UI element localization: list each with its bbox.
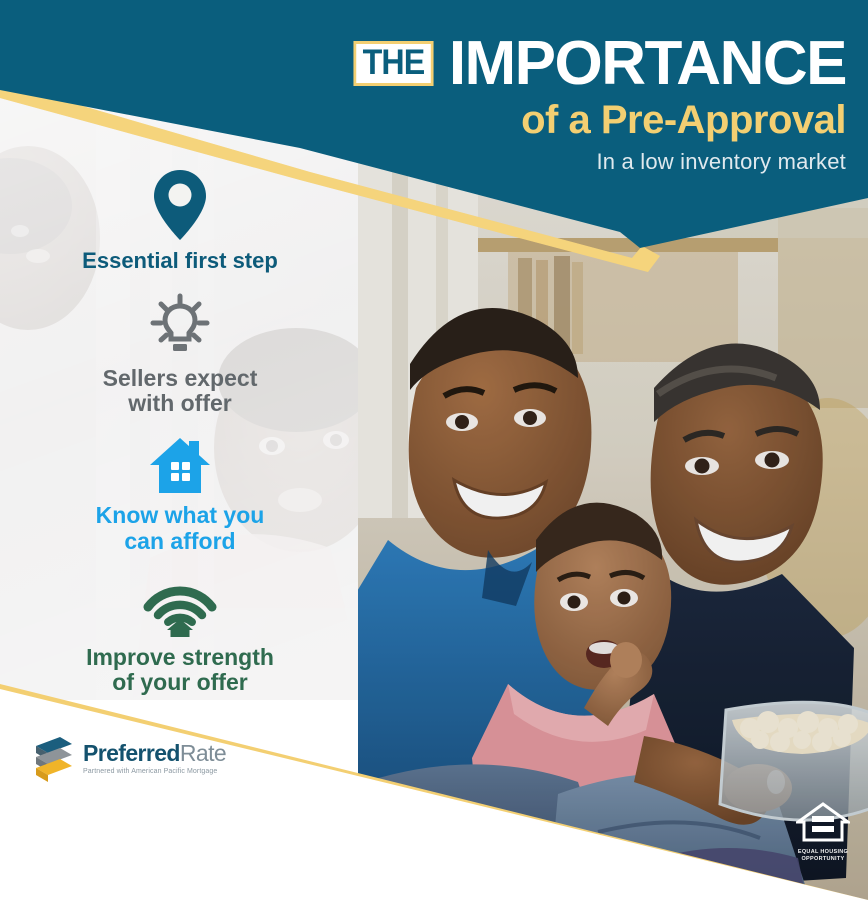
lightbulb-icon — [148, 292, 212, 356]
page-tagline: In a low inventory market — [350, 151, 846, 173]
feature-label-line2: of your offer — [112, 669, 247, 695]
preferred-rate-mark-icon — [32, 733, 76, 783]
signal-house-icon — [142, 577, 218, 637]
equal-housing-caption: EQUAL HOUSING OPPORTUNITY — [794, 849, 852, 862]
equal-housing-icon — [796, 802, 850, 842]
logo-name: PreferredRate — [83, 742, 226, 765]
logo-name-bold: Preferred — [83, 740, 180, 766]
preferred-rate-wordmark: PreferredRate Partnered with American Pa… — [83, 742, 226, 775]
feature-label-line1: Sellers expect — [103, 365, 258, 391]
feature-label: Sellers expect with offer — [103, 366, 258, 418]
feature-label-line2: can afford — [124, 528, 235, 554]
preferred-rate-logo: PreferredRate Partnered with American Pa… — [32, 733, 226, 783]
logo-name-light: Rate — [180, 740, 226, 766]
logo-tagline: Partnered with American Pacific Mortgage — [83, 768, 226, 775]
the-badge: THE — [353, 41, 433, 86]
feature-item-sellers-expect: Sellers expect with offer — [0, 292, 360, 418]
house-icon — [149, 437, 211, 495]
page-title: IMPORTANCE — [449, 34, 846, 94]
feature-label-line1: Know what you — [96, 502, 265, 528]
equal-housing-line2: OPPORTUNITY — [801, 856, 844, 862]
feature-item-improve-strength: Improve strength of your offer — [0, 577, 360, 697]
feature-label-line1: Improve strength — [86, 644, 274, 670]
feature-label: Know what you can afford — [96, 503, 265, 555]
feature-item-know-what-you-can-afford: Know what you can afford — [0, 437, 360, 555]
feature-item-essential-first-step: Essential first step — [0, 168, 360, 274]
feature-label: Improve strength of your offer — [86, 645, 274, 697]
map-pin-icon — [151, 168, 209, 242]
feature-list: Essential first step Sellers expect — [0, 168, 360, 696]
feature-label-line1: Essential first step — [82, 248, 278, 273]
equal-housing-line1: EQUAL HOUSING — [798, 849, 848, 855]
feature-label: Essential first step — [82, 249, 278, 274]
feature-label-line2: with offer — [128, 390, 232, 416]
page-subtitle: of a Pre-Approval — [350, 100, 846, 140]
poster-canvas: THE IMPORTANCE of a Pre-Approval In a lo… — [0, 0, 868, 900]
equal-housing-opportunity-logo: EQUAL HOUSING OPPORTUNITY — [794, 802, 852, 862]
header-title-block: THE IMPORTANCE of a Pre-Approval In a lo… — [350, 34, 846, 173]
